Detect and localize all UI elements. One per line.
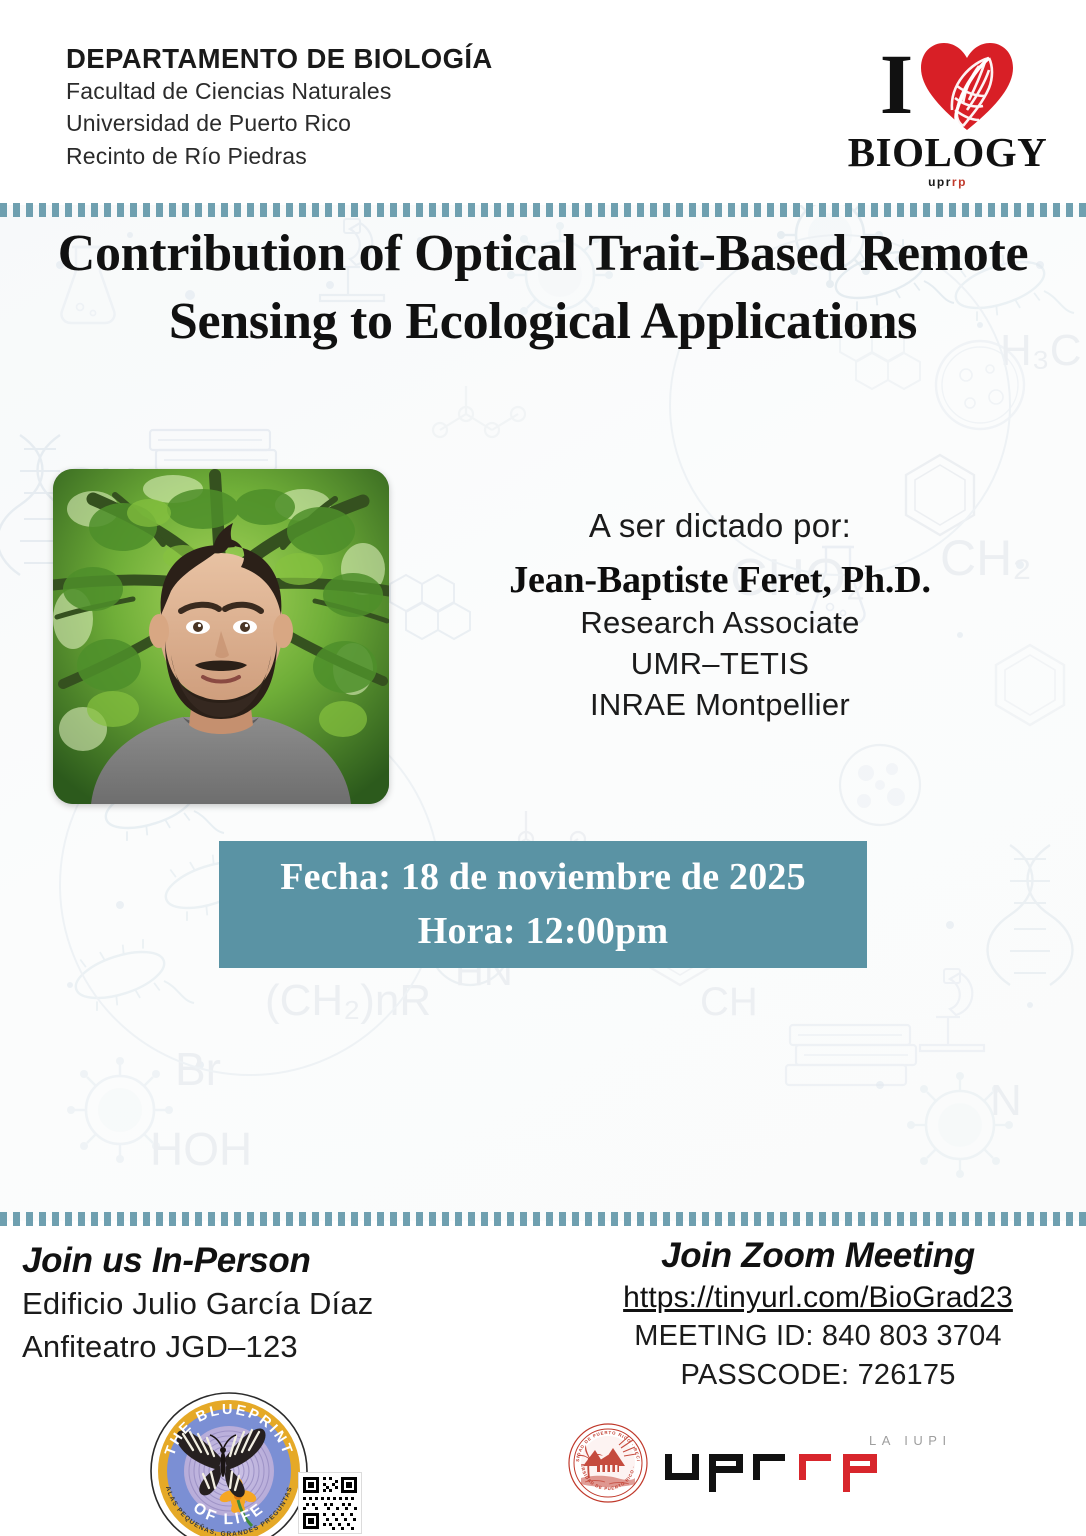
schedule-banner: Fecha: 18 de noviembre de 2025 Hora: 12:… [219, 841, 867, 968]
i-love-biology-logo: I [845, 36, 1050, 191]
zoom-meeting-id: MEETING ID: 840 803 3704 [560, 1317, 1076, 1356]
svg-text:Br: Br [175, 1043, 221, 1095]
in-person-block: Join us In-Person Edificio Julio García … [22, 1239, 492, 1368]
letter-i: I [880, 50, 913, 119]
in-person-room: Anfiteatro JGD–123 [22, 1326, 492, 1369]
la-iupi-tagline: LA IUPI [869, 1433, 952, 1448]
zoom-url-link[interactable]: https://tinyurl.com/BioGrad23 [623, 1278, 1013, 1317]
speaker-role: Research Associate [420, 603, 1020, 644]
svg-text:CH: CH [700, 980, 758, 1024]
svg-text:(CH₂)nR: (CH₂)nR [265, 976, 431, 1025]
seminar-poster: CH H₃C CHO₂ CH₂ (CH₂)nR Br HOH N HN CH D… [0, 0, 1086, 1536]
speaker-name: Jean-Baptiste Feret, Ph.D. [420, 558, 1020, 604]
uprrp-red: rp [952, 175, 967, 189]
faculty-line: Facultad de Ciencias Naturales [66, 75, 493, 108]
i-love-biology-row: I [845, 36, 1050, 136]
speaker-lead-in: A ser dictado por: [420, 505, 1020, 548]
speaker-photo [53, 469, 389, 804]
campus-line: Recinto de Río Piedras [66, 140, 493, 173]
talk-title: Contribution of Optical Trait-Based Remo… [53, 220, 1033, 355]
speaker-unit: UMR–TETIS [420, 644, 1020, 685]
poster-header: DEPARTAMENTO DE BIOLOGÍA Facultad de Cie… [0, 0, 1086, 205]
in-person-heading: Join us In-Person [22, 1239, 492, 1283]
svg-text:HOH: HOH [150, 1123, 252, 1175]
zoom-heading: Join Zoom Meeting [560, 1235, 1076, 1278]
heart-icon [919, 40, 1015, 132]
university-line: Universidad de Puerto Rico [66, 107, 493, 140]
in-person-building: Edificio Julio García Díaz [22, 1283, 492, 1326]
upr-seal-icon: UNIVERSIDAD DE PUERTO RICO · RECINTO DE … [567, 1422, 649, 1504]
department-title: DEPARTAMENTO DE BIOLOGÍA [66, 44, 493, 75]
uprrp-sublogo: uprrp [845, 175, 1050, 189]
uprrp-black: upr [928, 175, 952, 189]
event-time: Hora: 12:00pm [418, 905, 669, 959]
uprrp-wordmark: LA IUPI [663, 1428, 953, 1498]
divider-top [0, 203, 1086, 217]
svg-text:N: N [990, 1076, 1022, 1125]
department-block: DEPARTAMENTO DE BIOLOGÍA Facultad de Cie… [66, 44, 493, 173]
speaker-organization: INRAE Montpellier [420, 685, 1020, 726]
divider-bottom [0, 1212, 1086, 1226]
speaker-info: A ser dictado por: Jean-Baptiste Feret, … [420, 505, 1020, 726]
zoom-passcode: PASSCODE: 726175 [560, 1356, 1076, 1395]
biology-wordmark: BIOLOGY [845, 132, 1050, 173]
blueprint-of-life-seal: THE BLUEPRINT OF LIFE ALAS PEQUEÑAS, GRA… [150, 1392, 308, 1536]
qr-code[interactable] [298, 1472, 362, 1534]
zoom-block: Join Zoom Meeting https://tinyurl.com/Bi… [560, 1235, 1076, 1394]
event-date: Fecha: 18 de noviembre de 2025 [280, 851, 806, 905]
